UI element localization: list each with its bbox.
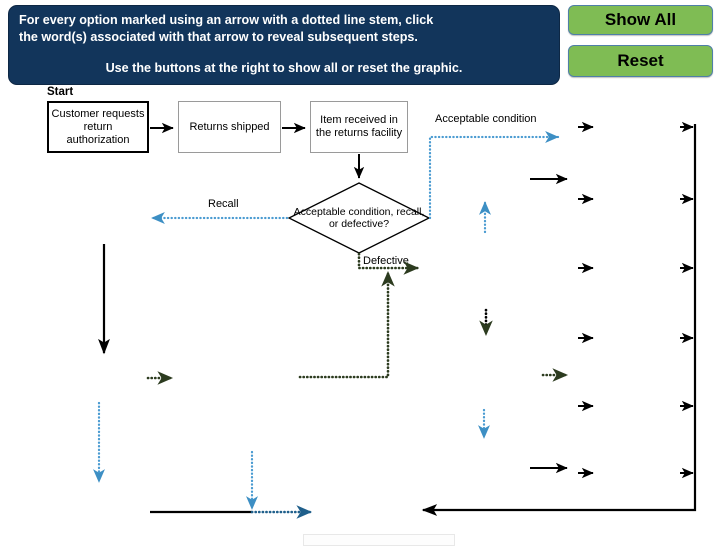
branch-label-defective[interactable]: Defective bbox=[363, 255, 409, 267]
edge-right-bus-return bbox=[423, 124, 695, 510]
decision-condition-recall-defective: Acceptable condition, recall, or defecti… bbox=[288, 182, 430, 254]
slide-canvas: For every option marked using an arrow w… bbox=[0, 0, 720, 540]
instruction-line-2: the word(s) associated with that arrow t… bbox=[19, 29, 549, 46]
instruction-line-3: Use the buttons at the right to show all… bbox=[19, 60, 549, 77]
start-label: Start bbox=[47, 86, 73, 98]
box-customer-request: Customer requests return authorization bbox=[47, 101, 149, 153]
branch-label-acceptable-condition[interactable]: Acceptable condition bbox=[435, 113, 537, 125]
branch-label-recall[interactable]: Recall bbox=[208, 198, 239, 210]
box-returns-shipped: Returns shipped bbox=[178, 101, 281, 153]
edge-return-loop-to-defective bbox=[300, 272, 388, 377]
reset-button[interactable]: Reset bbox=[568, 45, 713, 77]
decision-label: Acceptable condition, recall, or defecti… bbox=[288, 182, 430, 254]
offscreen-partial-box bbox=[303, 534, 455, 546]
instruction-banner: For every option marked using an arrow w… bbox=[8, 5, 560, 85]
edge-acceptable-condition bbox=[430, 137, 558, 218]
box-item-received: Item received in the returns facility bbox=[310, 101, 408, 153]
show-all-button[interactable]: Show All bbox=[568, 5, 713, 35]
instruction-line-1: For every option marked using an arrow w… bbox=[19, 12, 549, 29]
